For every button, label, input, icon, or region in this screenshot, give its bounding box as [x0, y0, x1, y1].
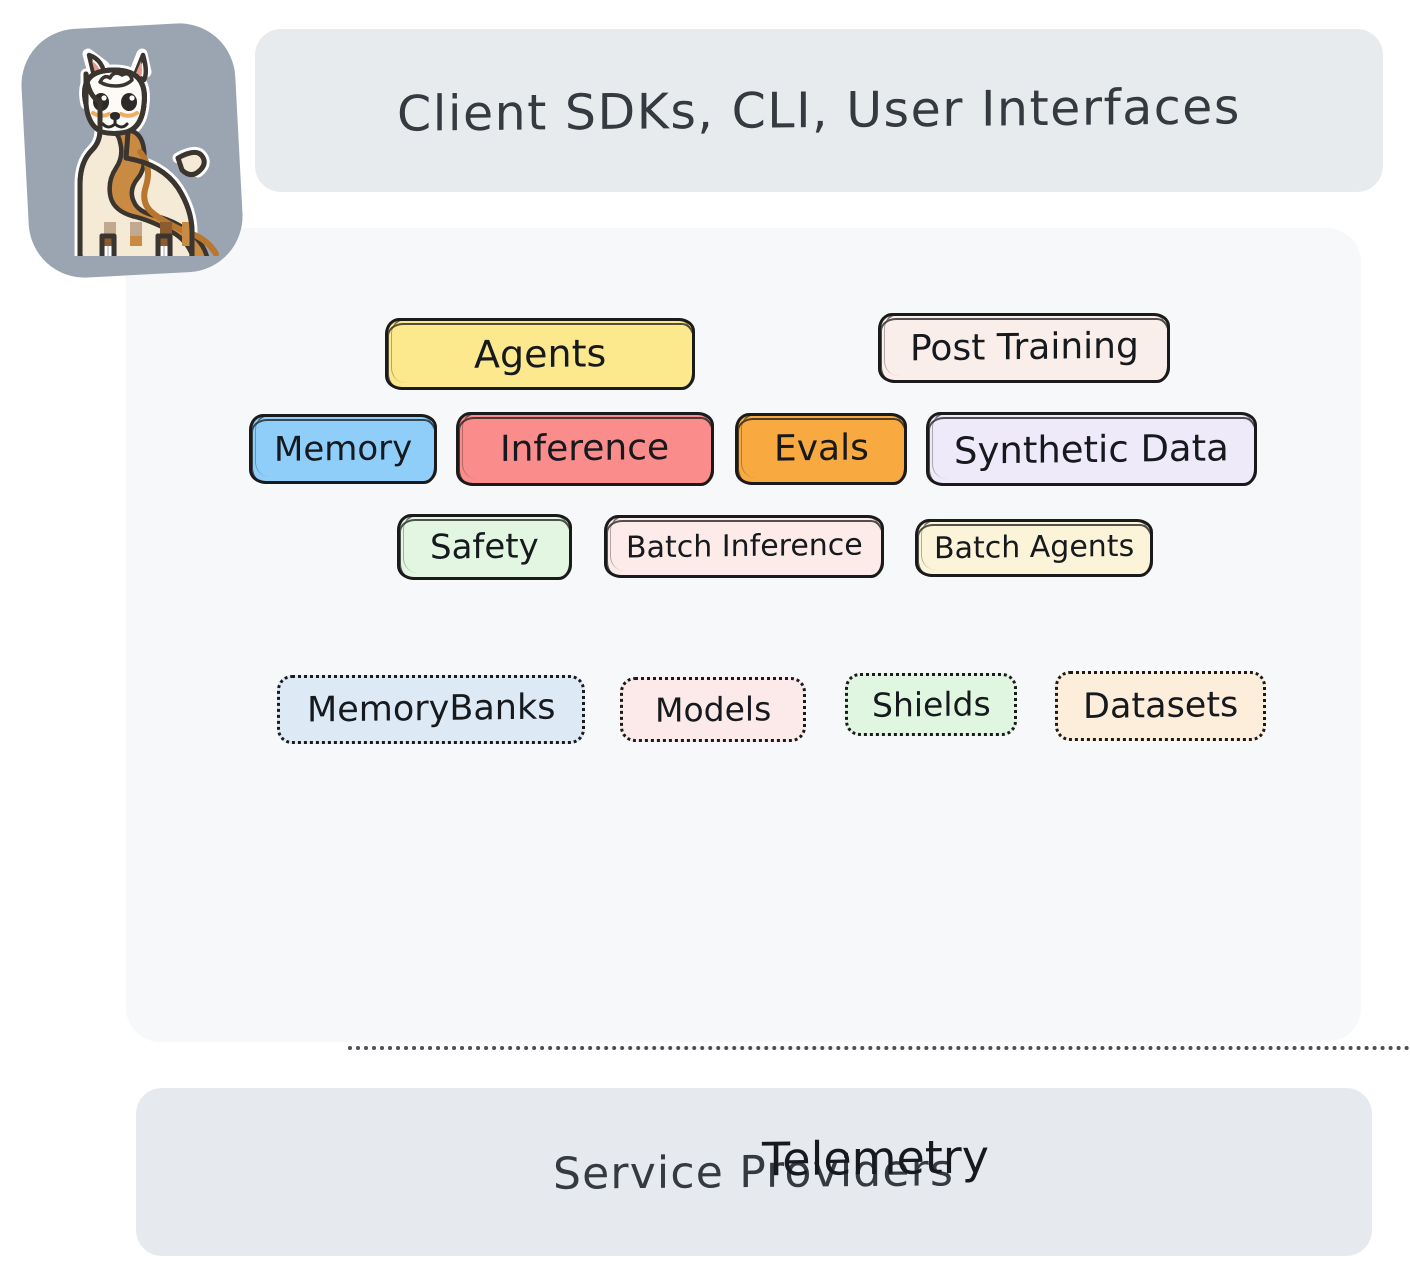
api-box-label: Memory: [274, 431, 412, 467]
api-box-post-training[interactable]: Post Training: [878, 313, 1170, 383]
api-box-label: Inference: [500, 430, 669, 468]
api-box-safety[interactable]: Safety: [397, 514, 572, 580]
resource-box-datasets[interactable]: Datasets: [1055, 671, 1266, 741]
api-box-label: Agents: [474, 334, 606, 374]
resource-box-memory-banks[interactable]: MemoryBanks: [277, 675, 585, 744]
api-box-synthetic-data[interactable]: Synthetic Data: [926, 412, 1257, 486]
api-box-label: Batch Inference: [626, 530, 863, 563]
api-box-label: Post Training: [910, 329, 1139, 368]
page-title: Client SDKs, CLI, User Interfaces: [397, 78, 1241, 142]
api-surface-panel: AgentsPost TrainingMemoryInferenceEvalsS…: [126, 228, 1361, 1042]
section-divider: [348, 1046, 1410, 1050]
api-box-label: Batch Agents: [934, 532, 1134, 564]
client-layer-bar: Client SDKs, CLI, User Interfaces: [255, 29, 1383, 192]
resource-box-shields[interactable]: Shields: [845, 673, 1017, 736]
api-box-batch-agents[interactable]: Batch Agents: [915, 519, 1153, 577]
api-box-inference[interactable]: Inference: [456, 412, 714, 486]
llama-logo-badge: [19, 21, 246, 281]
api-box-label: Evals: [774, 430, 869, 467]
api-box-batch-inference[interactable]: Batch Inference: [604, 515, 884, 578]
api-box-evals[interactable]: Evals: [735, 413, 907, 485]
api-box-label: Telemetry: [762, 1134, 989, 1183]
api-box-memory[interactable]: Memory: [249, 414, 437, 484]
resource-box-models[interactable]: Models: [620, 677, 806, 742]
service-providers-bar: Service Providers: [136, 1088, 1372, 1256]
resource-box-label: Shields: [872, 687, 991, 721]
resource-box-label: MemoryBanks: [307, 690, 556, 728]
resource-box-label: Models: [655, 692, 771, 726]
api-box-label: Synthetic Data: [954, 429, 1229, 469]
diagram-canvas: Client SDKs, CLI, User Interfaces: [0, 0, 1410, 1268]
api-box-agents[interactable]: Agents: [385, 318, 695, 390]
resource-box-label: Datasets: [1083, 688, 1238, 725]
llama-icon: [42, 46, 222, 256]
api-box-label: Safety: [430, 529, 539, 564]
